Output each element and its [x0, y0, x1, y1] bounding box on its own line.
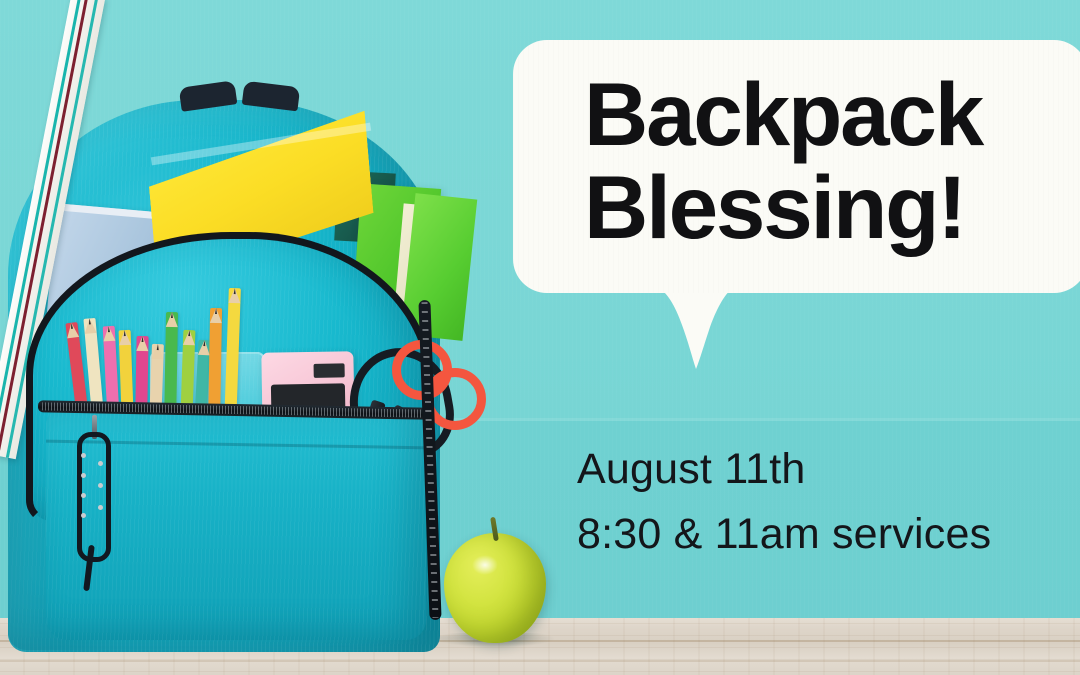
cord-bead [81, 493, 86, 498]
event-details-text: August 11th 8:30 & 11am services [577, 437, 1057, 567]
speech-bubble-tail [660, 283, 732, 369]
pencil-lead [188, 330, 190, 336]
pencil-lead [170, 312, 172, 318]
cord-bead [98, 461, 103, 466]
poster-canvas: Backpack Blessing! August 11th 8:30 & 11… [0, 0, 1080, 675]
pencil-lead [123, 330, 125, 336]
pencil-lead [156, 344, 158, 350]
pencil-lead [233, 288, 235, 294]
pencil-lead [107, 326, 109, 332]
cord-bead [98, 483, 103, 488]
cord-bead [81, 473, 86, 478]
cord-bead [81, 513, 86, 518]
apple [444, 533, 546, 643]
apple-highlight [472, 555, 498, 575]
cord-bead [81, 453, 86, 458]
pencil-tip [65, 322, 79, 338]
cord-bead [98, 505, 103, 510]
headline-text: Backpack Blessing! [584, 68, 1080, 254]
pencil-lead [203, 340, 205, 346]
pencil-lead [88, 318, 91, 324]
backpack-photo-group [0, 0, 520, 675]
calculator-solar-panel [314, 363, 345, 378]
pencil-lead [214, 308, 216, 314]
zipper-pull-cord [77, 432, 111, 562]
pencil-lead [141, 336, 143, 342]
